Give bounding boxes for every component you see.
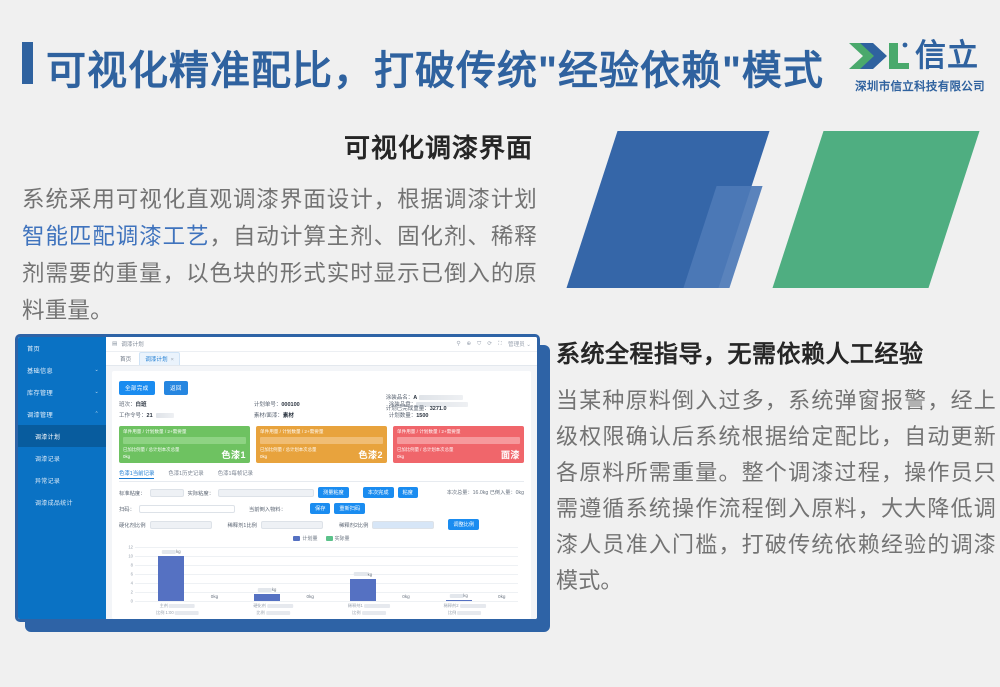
chevron-up-icon: ⌃ <box>95 411 100 417</box>
chart-gridline <box>135 565 518 566</box>
scan-input[interactable] <box>139 505 235 513</box>
current-material-label: 当前倒入物料： <box>249 505 286 513</box>
chart-legend: 计划量 实际量 <box>119 535 524 542</box>
block-progress-bar <box>397 437 520 444</box>
chart-y-tick: 2 <box>131 590 133 595</box>
block-progress-bar <box>260 437 383 444</box>
meta-label: 班次： <box>119 402 136 408</box>
chart-bar-planned[interactable] <box>254 594 280 601</box>
left-copy-part-a: 系统采用可视化直观调漆界面设计，根据调漆计划 <box>22 187 537 212</box>
chart-gridline <box>135 583 518 584</box>
left-subhead: 可视化调漆界面 <box>22 128 537 165</box>
chart-plot-area: 024681012kg0kg主剂比例 1:00kg0kg硬化剂比例kg0kg稀释… <box>135 547 518 601</box>
viscosity-row: 标准粘度： 实际粘度： 测量粘度 本次完成 粘度 本次总量：16.0kg 已倒入… <box>119 487 524 498</box>
chevron-down-icon: ⌄ <box>95 367 100 373</box>
material-block-color1[interactable]: 单件用量 / 计划数量 / 2+需要量 已加比例量 / 总计划本次总量 0kg … <box>119 426 250 463</box>
material-block-topcoat[interactable]: 单件用量 / 计划数量 / 2+需要量 已加比例量 / 总计划本次总量 0kg … <box>393 426 524 463</box>
legend-label: 计划量 <box>302 535 317 542</box>
topbar-icon-group: ⚲ ⊕ ⛉ ⟳ ⛶ 管理员 ⌄ <box>456 340 531 348</box>
redacted-value <box>419 395 463 400</box>
breadcrumb: 调漆计划 <box>121 340 143 348</box>
act-viscosity-input[interactable] <box>218 489 314 497</box>
meta-label: 计划已完成重量： <box>386 406 430 412</box>
std-viscosity-label: 标准粘度： <box>119 489 146 497</box>
meta-value: 3271.0 <box>430 406 447 412</box>
sidebar-item-exception-records[interactable]: 异常记录 <box>18 469 106 491</box>
legend-item-actual[interactable]: 实际量 <box>326 535 350 542</box>
globe-icon[interactable]: ⊕ <box>466 341 471 347</box>
app-tabbar: 首页 调漆计划× <box>106 352 537 366</box>
meta-label: 素材/面漆： <box>254 413 283 419</box>
tab-history-record[interactable]: 色漆1历史记录 <box>168 469 203 479</box>
chart-y-tick: 4 <box>131 581 133 586</box>
sidebar-item-paint-records[interactable]: 调漆记录 <box>18 447 106 469</box>
chart-x-label: 稀释剂2比例 <box>444 603 486 616</box>
save-button[interactable]: 保存 <box>310 503 330 514</box>
decorative-parallelograms <box>550 131 990 311</box>
measure-viscosity-button[interactable]: 测量粘度 <box>318 487 349 498</box>
meta-label: 计划单号： <box>254 402 282 408</box>
sidebar-item-label: 调漆记录 <box>35 454 60 463</box>
tab-label: 调漆计划 <box>145 357 167 363</box>
pin-icon[interactable]: ⚲ <box>456 341 460 347</box>
right-copy-block: 系统全程指导，无需依赖人工经验 当某种原料倒入过多，系统弹窗报警，经上级权限确认… <box>556 334 996 599</box>
thinner2-ratio-label: 稀释剂2比例 <box>339 521 368 529</box>
material-blocks: 单件用量 / 计划数量 / 2+需要量 已加比例量 / 总计划本次总量 0kg … <box>119 426 524 463</box>
block-name: 色漆1 <box>221 448 246 461</box>
hardener-ratio-label: 硬化剂比例 <box>119 521 146 529</box>
chart-x-label: 硬化剂比例 <box>253 603 293 616</box>
chart-bar-value-planned: kg <box>162 549 180 554</box>
chart-bar-value-actual: 0kg <box>211 594 218 599</box>
sidebar-item-label: 异常记录 <box>35 476 60 485</box>
chart-y-tick: 12 <box>128 545 133 550</box>
chart-x-label: 主剂比例 1:00 <box>156 603 199 616</box>
std-viscosity-input[interactable] <box>150 489 184 497</box>
close-icon[interactable]: × <box>171 357 174 363</box>
user-menu[interactable]: 管理员 ⌄ <box>508 340 531 348</box>
chart-y-tick: 0 <box>131 599 133 604</box>
chart-y-tick: 10 <box>128 554 133 559</box>
sidebar-item-paint-plan[interactable]: 调漆计划 <box>18 425 106 447</box>
title-accent-bar <box>22 42 33 84</box>
chart-gridline <box>135 547 518 548</box>
app-main: ▤ 调漆计划 ⚲ ⊕ ⛉ ⟳ ⛶ 管理员 ⌄ 首页 调漆计划× 全部完成 返回 <box>106 337 537 619</box>
sidebar-item-home[interactable]: 首页 <box>18 337 106 359</box>
page-header: 可视化精准配比，打破传统"经验依赖"模式 信立 深圳市信立科技有限公司 <box>0 0 1000 118</box>
scan-label: 扫码： <box>119 505 135 513</box>
chart-gridline <box>135 556 518 557</box>
tab-label: 首页 <box>120 357 131 363</box>
paint-plan-card: 全部完成 返回 班次：白班 工作令号：21 计划单号：000100 素材/面漆：… <box>112 371 531 619</box>
sidebar-item-label: 首页 <box>27 344 40 353</box>
act-viscosity-label: 实际粘度： <box>188 489 215 497</box>
block-name: 色漆2 <box>358 448 383 461</box>
company-logo: 信立 深圳市信立科技有限公司 <box>846 36 994 94</box>
sidebar-item-paint-management[interactable]: 调漆管理 ⌃ <box>18 403 106 425</box>
legend-swatch <box>326 536 333 541</box>
chart-bar-planned[interactable] <box>158 556 184 601</box>
thinner2-ratio-input[interactable] <box>372 521 434 529</box>
block-line-1: 单件用量 / 计划数量 / 2+需要量 <box>260 429 383 435</box>
chevron-down-icon: ⌄ <box>95 389 100 395</box>
meta-value: 白班 <box>136 402 147 408</box>
tab-current-record[interactable]: 色漆1当前记录 <box>119 469 154 479</box>
rescan-button[interactable]: 重新扫码 <box>334 503 365 514</box>
chart-bar-planned[interactable] <box>350 579 376 602</box>
sidebar-item-basic-info[interactable]: 基础信息 ⌄ <box>18 359 106 381</box>
meta-value: 21 <box>147 413 153 419</box>
block-name: 面漆 <box>501 448 520 461</box>
chart-gridline <box>135 601 518 602</box>
adjust-ratio-button[interactable]: 调整比例 <box>448 519 479 530</box>
block-line-1: 单件用量 / 计划数量 / 2+需要量 <box>123 429 246 435</box>
legend-label: 实际量 <box>335 535 350 542</box>
sidebar-item-inventory[interactable]: 库存管理 ⌄ <box>18 381 106 403</box>
hardener-ratio-input[interactable] <box>150 521 212 529</box>
ratio-row: 硬化剂比例 稀释剂1比例 稀释剂2比例 调整比例 <box>119 519 524 530</box>
tab-home[interactable]: 首页 <box>115 353 136 365</box>
meta-label: 涂装品名： <box>386 395 414 401</box>
sidebar-item-label: 基础信息 <box>27 366 53 375</box>
tab-frame-record[interactable]: 色漆1每帧记录 <box>218 469 253 479</box>
menu-icon[interactable]: ▤ <box>112 341 117 347</box>
meta-value: 000100 <box>281 402 299 408</box>
complete-current-button[interactable]: 本次完成 <box>363 487 394 498</box>
logo-company: 深圳市信立科技有限公司 <box>846 78 994 94</box>
complete-all-button[interactable]: 全部完成 <box>119 381 155 395</box>
legend-item-planned[interactable]: 计划量 <box>293 535 317 542</box>
totals-note: 本次总量：16.0kg 已倒入量：0kg <box>447 489 524 496</box>
viscosity-button[interactable]: 粘度 <box>398 487 418 498</box>
chart-gridline <box>135 574 518 575</box>
chart-bar-value-actual: 0kg <box>307 594 314 599</box>
record-tabs: 色漆1当前记录 色漆1历史记录 色漆1每帧记录 <box>119 469 524 482</box>
app-topbar: ▤ 调漆计划 ⚲ ⊕ ⛉ ⟳ ⛶ 管理员 ⌄ <box>106 337 537 352</box>
material-bar-chart: 计划量 实际量 024681012kg0kg主剂比例 1:00kg0kg硬化剂比… <box>119 535 524 617</box>
left-copy-block: 可视化调漆界面 系统采用可视化直观调漆界面设计，根据调漆计划智能匹配调漆工艺，自… <box>22 128 537 329</box>
left-body-copy: 系统采用可视化直观调漆界面设计，根据调漆计划智能匹配调漆工艺，自动计算主剂、固化… <box>22 181 537 329</box>
chart-y-tick: 6 <box>131 572 133 577</box>
redacted-value <box>156 413 174 418</box>
chart-bar-planned[interactable] <box>446 600 472 601</box>
right-subhead: 系统全程指导，无需依赖人工经验 <box>556 334 996 369</box>
app-screenshot: 首页 基础信息 ⌄ 库存管理 ⌄ 调漆管理 ⌃ 调漆计划 调漆记录 异常记录 调… <box>15 334 540 622</box>
legend-swatch <box>293 536 300 541</box>
fullscreen-icon[interactable]: ⛶ <box>498 341 502 348</box>
thinner1-ratio-input[interactable] <box>261 521 323 529</box>
logo-name: 信立 <box>915 39 979 73</box>
parallelogram-green <box>772 131 979 288</box>
sidebar-item-label: 库存管理 <box>27 388 53 397</box>
logo-xl-mark <box>846 39 910 73</box>
scan-row: 扫码： 当前倒入物料： 保存 重新扫码 <box>119 503 524 514</box>
meta-value: A <box>413 395 417 401</box>
chart-bar-value-planned: kg <box>449 593 467 598</box>
left-copy-highlight: 智能匹配调漆工艺 <box>22 224 210 249</box>
chart-bar-value-planned: kg <box>354 572 372 577</box>
app-sidebar: 首页 基础信息 ⌄ 库存管理 ⌄ 调漆管理 ⌃ 调漆计划 调漆记录 异常记录 调… <box>18 337 106 619</box>
meta-value: 素材 <box>283 413 294 419</box>
chart-bar-value-planned: kg <box>258 587 276 592</box>
page-title: 可视化精准配比，打破传统"经验依赖"模式 <box>46 38 824 96</box>
back-button[interactable]: 返回 <box>164 381 188 395</box>
chart-bar-value-actual: 0kg <box>498 594 505 599</box>
chart-y-tick: 8 <box>131 563 133 568</box>
bell-icon[interactable]: ⟳ <box>487 341 492 347</box>
thinner1-ratio-label: 稀释剂1比例 <box>228 521 257 529</box>
material-block-color2[interactable]: 单件用量 / 计划数量 / 2+需要量 已加比例量 / 总计划本次总量 0kg … <box>256 426 387 463</box>
tab-paint-plan[interactable]: 调漆计划× <box>139 352 180 365</box>
chart-bar-value-actual: 0kg <box>402 594 409 599</box>
sidebar-item-finished-stats[interactable]: 调漆成品统计 <box>18 491 106 513</box>
meta-label: 工作令号： <box>119 413 147 419</box>
sidebar-item-label: 调漆成品统计 <box>35 498 73 507</box>
right-body-copy: 当某种原料倒入过多，系统弹窗报警，经上级权限确认后系统根据给定配比，自动更新各原… <box>556 383 996 599</box>
sidebar-item-label: 调漆计划 <box>35 432 60 441</box>
shield-icon[interactable]: ⛉ <box>477 341 481 348</box>
block-line-1: 单件用量 / 计划数量 / 2+需要量 <box>397 429 520 435</box>
sidebar-item-label: 调漆管理 <box>27 410 53 419</box>
chart-x-label: 稀释剂1比例 <box>348 603 390 616</box>
block-progress-bar <box>123 437 246 444</box>
